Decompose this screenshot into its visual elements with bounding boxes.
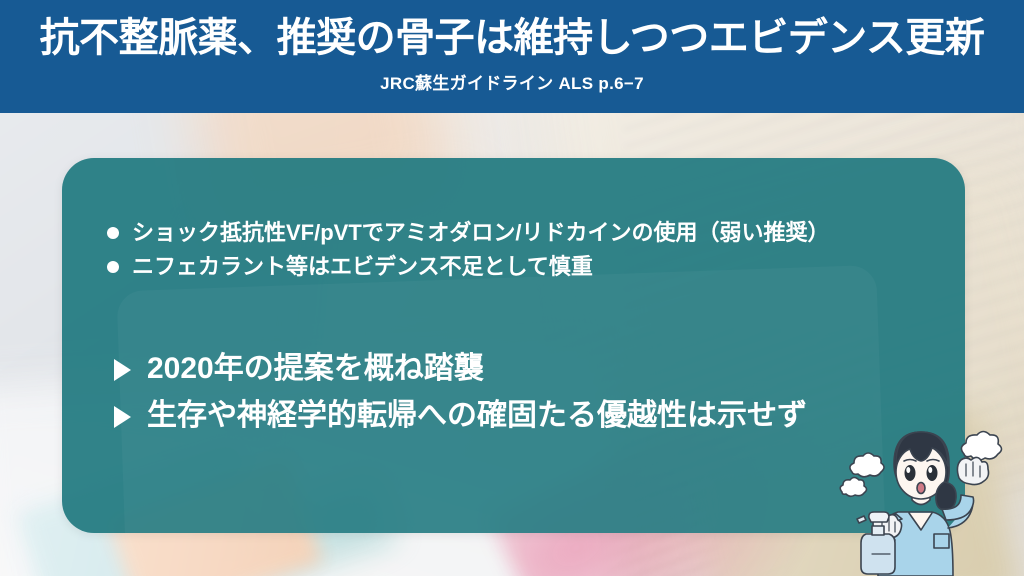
- highlight-text: 生存や神経学的転帰への確固たる優越性は示せず: [147, 393, 807, 438]
- page-title: 抗不整脈薬、推奨の骨子は維持しつつエビデンス更新: [40, 16, 985, 60]
- dot-bullet-icon: [107, 227, 119, 239]
- triangle-bullet-icon: [114, 406, 131, 428]
- header-bar: 抗不整脈薬、推奨の骨子は維持しつつエビデンス更新 JRC蘇生ガイドライン ALS…: [0, 0, 1024, 113]
- nurse-illustration: [836, 416, 1016, 576]
- triangle-bullet-icon: [114, 359, 131, 381]
- dot-bullet-icon: [107, 261, 119, 273]
- content-card: ショック抵抗性VF/pVTでアミオダロン/リドカインの使用（弱い推奨） ニフェカ…: [62, 158, 965, 533]
- slide-canvas: 抗不整脈薬、推奨の骨子は維持しつつエビデンス更新 JRC蘇生ガイドライン ALS…: [0, 0, 1024, 576]
- bullet-text: ニフェカラント等はエビデンス不足として慎重: [132, 250, 593, 284]
- list-item: ニフェカラント等はエビデンス不足として慎重: [107, 250, 965, 284]
- list-item: ショック抵抗性VF/pVTでアミオダロン/リドカインの使用（弱い推奨）: [107, 216, 965, 250]
- bullet-list: ショック抵抗性VF/pVTでアミオダロン/リドカインの使用（弱い推奨） ニフェカ…: [107, 216, 965, 284]
- highlight-text: 2020年の提案を概ね踏襲: [147, 346, 484, 391]
- card-content: ショック抵抗性VF/pVTでアミオダロン/リドカインの使用（弱い推奨） ニフェカ…: [62, 158, 965, 438]
- list-item: 2020年の提案を概ね踏襲: [107, 346, 965, 391]
- bullet-text: ショック抵抗性VF/pVTでアミオダロン/リドカインの使用（弱い推奨）: [132, 216, 829, 250]
- page-subtitle: JRC蘇生ガイドライン ALS p.6−7: [380, 69, 644, 94]
